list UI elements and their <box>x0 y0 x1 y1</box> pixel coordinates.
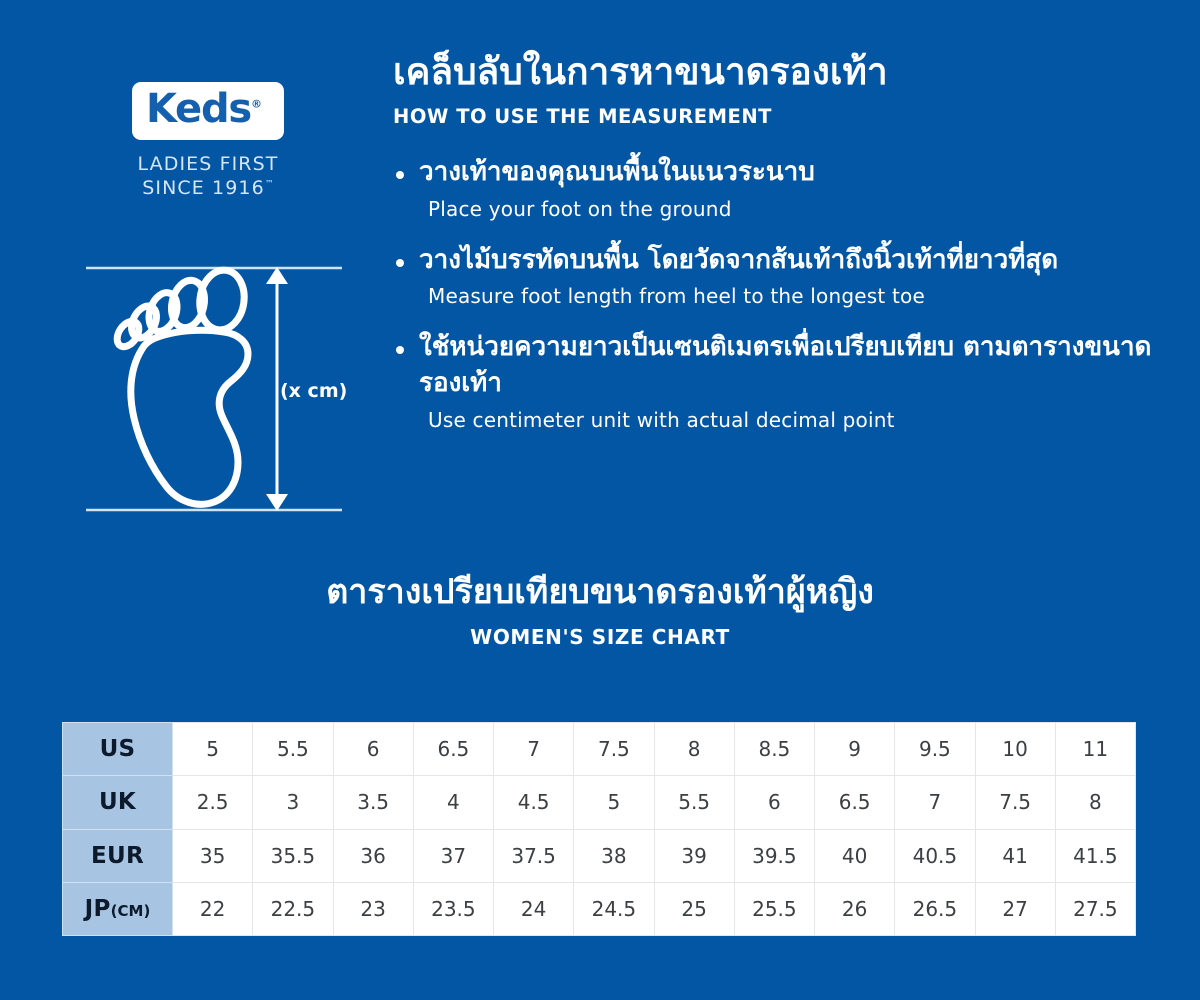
size-cell: 6.5 <box>815 776 895 829</box>
size-cell: 26.5 <box>895 882 975 935</box>
tagline-line-1: LADIES FIRST <box>118 152 298 176</box>
size-chart-title-thai: ตารางเปรียบเทียบขนาดรองเท้าผู้หญิง <box>0 572 1200 613</box>
size-cell: 7.5 <box>975 776 1055 829</box>
size-cell: 39.5 <box>734 829 814 882</box>
foot-sole-outline <box>131 330 248 504</box>
size-cell: 24 <box>494 882 574 935</box>
size-cell: 8 <box>1055 776 1135 829</box>
size-cell: 7 <box>895 776 975 829</box>
size-cell: 3.5 <box>333 776 413 829</box>
size-cell: 6.5 <box>413 723 493 776</box>
step-thai-text: วางเท้าของคุณบนพื้นในแนวระนาบ <box>419 157 815 187</box>
size-cell: 7.5 <box>574 723 654 776</box>
size-cell: 7 <box>494 723 574 776</box>
measure-arrow-head-bottom <box>266 494 288 511</box>
step-english: Use centimeter unit with actual decimal … <box>428 408 1153 432</box>
keds-logo-box: Keds® <box>132 82 284 140</box>
step-thai-text: วางไม้บรรทัดบนพื้น โดยวัดจากส้นเท้าถึงนิ… <box>419 245 1058 275</box>
size-cell: 11 <box>1055 723 1135 776</box>
size-cell: 3 <box>253 776 333 829</box>
size-cell: 22.5 <box>253 882 333 935</box>
size-chart-title-english: WOMEN'S SIZE CHART <box>0 625 1200 649</box>
size-cell: 37 <box>413 829 493 882</box>
table-row: EUR3535.5363737.5383939.54040.54141.5 <box>63 829 1136 882</box>
size-cell: 5.5 <box>654 776 734 829</box>
step-english: Place your foot on the ground <box>428 197 1153 221</box>
row-label-unit: (CM) <box>111 902 151 920</box>
size-cell: 35 <box>173 829 253 882</box>
size-cell: 37.5 <box>494 829 574 882</box>
size-cell: 8.5 <box>734 723 814 776</box>
size-guide-page: Keds® LADIES FIRST SINCE 1916™ <box>0 0 1200 1000</box>
page-title-thai: เคล็บลับในการหาขนาดรองเท้า <box>393 50 1153 94</box>
tagline-line-2-text: SINCE 1916 <box>142 177 265 199</box>
size-cell: 5 <box>173 723 253 776</box>
size-cell: 6 <box>333 723 413 776</box>
instructions-panel: เคล็บลับในการหาขนาดรองเท้า HOW TO USE TH… <box>393 50 1153 454</box>
size-cell: 5 <box>574 776 654 829</box>
size-cell: 23 <box>333 882 413 935</box>
brand-logo-block: Keds® LADIES FIRST SINCE 1916™ <box>118 82 298 201</box>
size-cell: 35.5 <box>253 829 333 882</box>
row-label-jp: JP(CM) <box>63 882 173 935</box>
row-label-text: JP <box>85 896 111 922</box>
list-item: วางไม้บรรทัดบนพื้น โดยวัดจากส้นเท้าถึงนิ… <box>393 243 1153 309</box>
trademark-icon: ™ <box>265 180 274 190</box>
step-thai: วางเท้าของคุณบนพื้นในแนวระนาบ <box>393 155 1153 191</box>
size-cell: 24.5 <box>574 882 654 935</box>
size-cell: 9.5 <box>895 723 975 776</box>
size-cell: 38 <box>574 829 654 882</box>
size-cell: 2.5 <box>173 776 253 829</box>
row-label-text: EUR <box>91 843 144 869</box>
step-thai: วางไม้บรรทัดบนพื้น โดยวัดจากส้นเท้าถึงนิ… <box>393 243 1153 279</box>
toe-5-little <box>113 317 144 350</box>
size-cell: 39 <box>654 829 734 882</box>
size-cell: 27.5 <box>1055 882 1135 935</box>
size-cell: 27 <box>975 882 1055 935</box>
page-title-english: HOW TO USE THE MEASUREMENT <box>393 105 1153 128</box>
size-cell: 5.5 <box>253 723 333 776</box>
brand-tagline: LADIES FIRST SINCE 1916™ <box>118 152 298 201</box>
size-cell: 22 <box>173 882 253 935</box>
table-row: US55.566.577.588.599.51011 <box>63 723 1136 776</box>
step-thai: ใช้หน่วยความยาวเป็นเซนติเมตรเพื่อเปรียบเ… <box>393 330 1153 402</box>
list-item: ใช้หน่วยความยาวเป็นเซนติเมตรเพื่อเปรียบเ… <box>393 330 1153 432</box>
step-thai-text: ใช้หน่วยความยาวเป็นเซนติเมตรเพื่อเปรียบเ… <box>419 332 1151 398</box>
size-cell: 26 <box>815 882 895 935</box>
size-cell: 40.5 <box>895 829 975 882</box>
row-label-us: US <box>63 723 173 776</box>
registered-trademark-icon: ® <box>251 98 262 111</box>
foot-measurement-diagram: (x cm) <box>80 262 360 530</box>
bullet-dot-icon <box>396 171 404 179</box>
table-row: UK2.533.544.555.566.577.58 <box>63 776 1136 829</box>
bullet-dot-icon <box>396 346 404 354</box>
size-chart-header: ตารางเปรียบเทียบขนาดรองเท้าผู้หญิง WOMEN… <box>0 572 1200 649</box>
size-cell: 8 <box>654 723 734 776</box>
bullet-dot-icon <box>396 259 404 267</box>
row-label-uk: UK <box>63 776 173 829</box>
list-item: วางเท้าของคุณบนพื้นในแนวระนาบ Place your… <box>393 155 1153 221</box>
size-cell: 36 <box>333 829 413 882</box>
size-chart-table-wrapper: US55.566.577.588.599.51011UK2.533.544.55… <box>62 722 1136 936</box>
size-cell: 9 <box>815 723 895 776</box>
keds-wordmark-text: Keds <box>146 86 251 132</box>
keds-wordmark: Keds® <box>146 89 262 129</box>
steps-list: วางเท้าของคุณบนพื้นในแนวระนาบ Place your… <box>393 155 1153 433</box>
measure-label: (x cm) <box>280 380 347 402</box>
step-english: Measure foot length from heel to the lon… <box>428 284 1153 308</box>
tagline-line-2: SINCE 1916™ <box>118 176 298 200</box>
size-cell: 4 <box>413 776 493 829</box>
size-cell: 25 <box>654 882 734 935</box>
size-cell: 25.5 <box>734 882 814 935</box>
size-chart-table: US55.566.577.588.599.51011UK2.533.544.55… <box>62 722 1136 936</box>
row-label-eur: EUR <box>63 829 173 882</box>
size-cell: 41 <box>975 829 1055 882</box>
row-label-text: US <box>100 736 136 762</box>
size-cell: 4.5 <box>494 776 574 829</box>
size-cell: 41.5 <box>1055 829 1135 882</box>
measure-arrow-head-top <box>266 267 288 284</box>
row-label-text: UK <box>99 789 136 815</box>
size-cell: 10 <box>975 723 1055 776</box>
table-row: JP(CM)2222.52323.52424.52525.52626.52727… <box>63 882 1136 935</box>
size-cell: 23.5 <box>413 882 493 935</box>
size-cell: 40 <box>815 829 895 882</box>
size-cell: 6 <box>734 776 814 829</box>
